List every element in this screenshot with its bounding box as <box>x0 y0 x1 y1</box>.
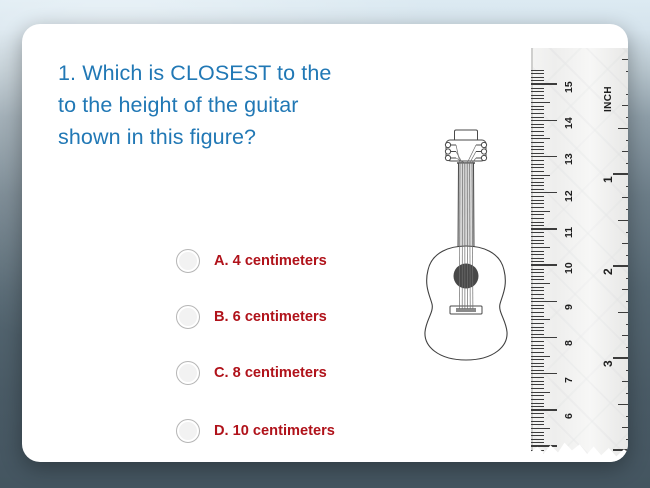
ruler-inch-minor-tick <box>626 347 628 348</box>
ruler-cm-minor-tick <box>531 247 550 248</box>
question-card: 1. Which is CLOSEST to the to the height… <box>22 24 628 462</box>
option-c-label: C. 8 centimeters <box>214 365 327 381</box>
ruler-cm-minor-tick <box>531 384 544 385</box>
ruler-cm-major-tick <box>531 301 557 303</box>
option-a-label: A. 4 centimeters <box>214 253 327 269</box>
ruler-cm-minor-tick <box>531 200 544 201</box>
ruler-cm-minor-tick <box>531 135 544 136</box>
ruler-illustration: 15141312111098765 1234 INCH <box>531 48 628 462</box>
ruler-cm-minor-tick <box>531 403 544 404</box>
ruler-inch-minor-tick <box>622 151 628 152</box>
option-d[interactable]: D. 10 centimeters <box>176 408 476 454</box>
ruler-cm-minor-tick <box>531 417 544 418</box>
ruler-cm-minor-tick <box>531 305 544 306</box>
ruler-cm-number: 14 <box>563 118 575 130</box>
ruler-cm-minor-tick <box>531 189 544 190</box>
ruler-cm-number: 10 <box>563 262 575 274</box>
ruler-cm-minor-tick <box>531 185 544 186</box>
ruler-inch-major-tick <box>613 265 628 267</box>
ruler-inch-minor-tick <box>626 301 628 302</box>
ruler-cm-minor-tick <box>531 308 544 309</box>
ruler-cm-minor-tick <box>531 370 544 371</box>
ruler-cm-minor-tick <box>531 182 544 183</box>
ruler-cm-minor-tick <box>531 160 544 161</box>
ruler-inch-minor-tick <box>626 416 628 417</box>
ruler-cm-minor-tick <box>531 312 544 313</box>
ruler-cm-minor-tick <box>531 142 544 143</box>
ruler-inch-minor-tick <box>622 243 628 244</box>
ruler-inch-number: 1 <box>601 176 615 183</box>
ruler-cm-minor-tick <box>531 316 544 317</box>
ruler-cm-minor-tick <box>531 88 544 89</box>
ruler-cm-number: 6 <box>563 413 575 419</box>
ruler-cm-major-tick <box>531 83 557 85</box>
ruler-inch-minor-tick <box>622 105 628 106</box>
option-b-label: B. 6 centimeters <box>214 309 327 325</box>
ruler-cm-minor-tick <box>531 279 544 280</box>
ruler-cm-minor-tick <box>531 352 544 353</box>
ruler-cm-minor-tick <box>531 413 544 414</box>
acoustic-guitar-illustration <box>420 128 512 364</box>
ruler-cm-minor-tick <box>531 77 544 78</box>
ruler-inch-minor-tick <box>626 140 628 141</box>
ruler-inch-minor-tick <box>626 439 628 440</box>
ruler-cm-major-tick <box>531 373 557 375</box>
ruler-cm-number: 12 <box>563 190 575 202</box>
ruler-cm-minor-tick <box>531 327 544 328</box>
radio-button-c[interactable] <box>176 361 200 385</box>
ruler-cm-minor-tick <box>531 113 544 114</box>
ruler-cm-minor-tick <box>531 240 544 241</box>
question-line-2: to the height of the guitar <box>58 89 378 121</box>
ruler-inch-minor-tick <box>626 163 628 164</box>
ruler-cm-minor-tick <box>531 178 544 179</box>
ruler-cm-minor-tick <box>531 388 544 389</box>
ruler-inch-minor-tick <box>626 117 628 118</box>
ruler-cm-minor-tick <box>531 95 544 96</box>
ruler-cm-minor-tick <box>531 276 544 277</box>
ruler-cm-number: 11 <box>563 227 575 238</box>
question-line-1: 1. Which is CLOSEST to the <box>58 57 378 89</box>
ruler-cm-major-tick <box>531 264 557 266</box>
ruler-cm-major-tick <box>531 228 557 230</box>
ruler-cm-minor-tick <box>531 73 544 74</box>
ruler-cm-number: 7 <box>563 377 575 383</box>
ruler-inch-minor-tick <box>618 404 628 405</box>
ruler-cm-minor-tick <box>531 356 550 357</box>
ruler-cm-number: 13 <box>563 154 575 166</box>
ruler-cm-minor-tick <box>531 290 544 291</box>
ruler-cm-minor-tick <box>531 243 544 244</box>
ruler-cm-major-tick <box>531 409 557 411</box>
ruler-cm-minor-tick <box>531 80 544 81</box>
ruler-cm-minor-tick <box>531 421 544 422</box>
ruler-cm-minor-tick <box>531 225 544 226</box>
ruler-cm-minor-tick <box>531 251 544 252</box>
ruler-cm-minor-tick <box>531 345 544 346</box>
ruler-cm-minor-tick <box>531 272 544 273</box>
ruler-inch-minor-tick <box>622 289 628 290</box>
ruler-cm-minor-tick <box>531 138 550 139</box>
ruler-cm-minor-tick <box>531 124 544 125</box>
ruler-cm-minor-tick <box>531 395 544 396</box>
ruler-cm-minor-tick <box>531 269 544 270</box>
ruler-cm-minor-tick <box>531 424 544 425</box>
ruler-cm-minor-tick <box>531 363 544 364</box>
ruler-inch-minor-tick <box>626 370 628 371</box>
ruler-cm-minor-tick <box>531 171 544 172</box>
ruler-inch-minor-tick <box>622 335 628 336</box>
ruler-cm-minor-tick <box>531 214 544 215</box>
ruler-inch-minor-tick <box>626 209 628 210</box>
ruler-cm-minor-tick <box>531 294 544 295</box>
ruler-inch-number: 3 <box>601 360 615 367</box>
ruler-cm-major-tick <box>531 120 557 122</box>
ruler-cm-minor-tick <box>531 98 544 99</box>
ruler-cm-number: 8 <box>563 341 575 347</box>
ruler-cm-minor-tick <box>531 359 544 360</box>
ruler-cm-minor-tick <box>531 330 544 331</box>
ruler-inch-minor-tick <box>626 94 628 95</box>
ruler-inch-minor-tick <box>626 393 628 394</box>
ruler-cm-minor-tick <box>531 196 544 197</box>
ruler-inch-minor-tick <box>618 128 628 129</box>
ruler-cm-minor-tick <box>531 381 544 382</box>
ruler-inch-minor-tick <box>626 186 628 187</box>
radio-button-b[interactable] <box>176 305 200 329</box>
option-d-label: D. 10 centimeters <box>214 423 335 439</box>
ruler-cm-minor-tick <box>531 432 544 433</box>
ruler-cm-minor-tick <box>531 175 550 176</box>
ruler-cm-minor-tick <box>531 164 544 165</box>
ruler-cm-minor-tick <box>531 287 544 288</box>
ruler-cm-minor-tick <box>531 70 544 71</box>
ruler-cm-number: 9 <box>563 304 575 310</box>
ruler-inch-minor-tick <box>618 220 628 221</box>
ruler-cm-minor-tick <box>531 149 544 150</box>
ruler-inch-minor-tick <box>626 278 628 279</box>
ruler-cm-minor-tick <box>531 127 544 128</box>
ruler-cm-minor-tick <box>531 348 544 349</box>
ruler-cm-minor-tick <box>531 131 544 132</box>
ruler-cm-minor-tick <box>531 203 544 204</box>
ruler-cm-major-tick <box>531 445 557 447</box>
ruler-cm-minor-tick <box>531 91 544 92</box>
ruler-cm-number: 15 <box>563 81 575 93</box>
ruler-cm-minor-tick <box>531 392 550 393</box>
ruler-cm-minor-tick <box>531 341 544 342</box>
ruler-cm-minor-tick <box>531 435 544 436</box>
ruler-inch-minor-tick <box>622 427 628 428</box>
ruler-inch-minor-tick <box>618 312 628 313</box>
ruler-cm-minor-tick <box>531 146 544 147</box>
ruler-cm-major-tick <box>531 337 557 339</box>
ruler-cm-minor-tick <box>531 261 544 262</box>
ruler-cm-minor-tick <box>531 222 544 223</box>
ruler-cm-minor-tick <box>531 366 544 367</box>
ruler-inch-minor-tick <box>622 59 628 60</box>
page-title: 1. Which is CLOSEST to the to the height… <box>58 57 378 153</box>
ruler-cm-minor-tick <box>531 406 544 407</box>
ruler-cm-minor-tick <box>531 109 544 110</box>
ruler-cm-minor-tick <box>531 236 544 237</box>
ruler-cm-minor-tick <box>531 442 544 443</box>
ruler-cm-minor-tick <box>531 399 544 400</box>
ruler-cm-minor-tick <box>531 207 544 208</box>
inch-label: INCH <box>603 86 614 112</box>
ruler-inch-minor-tick <box>626 255 628 256</box>
ruler-cm-minor-tick <box>531 258 544 259</box>
ruler-inch-number: 2 <box>601 268 615 275</box>
ruler-inch-minor-tick <box>622 197 628 198</box>
ruler-cm-major-tick <box>531 156 557 158</box>
radio-button-a[interactable] <box>176 249 200 273</box>
ruler-cm-minor-tick <box>531 319 550 320</box>
ruler-centimeter-scale: 15141312111098765 <box>531 48 583 460</box>
ruler-cm-minor-tick <box>531 439 544 440</box>
ruler-cm-minor-tick <box>531 153 544 154</box>
ruler-inch-minor-tick <box>626 232 628 233</box>
ruler-cm-minor-tick <box>531 117 544 118</box>
ruler-inch-minor-tick <box>622 381 628 382</box>
ruler-cm-minor-tick <box>531 428 550 429</box>
ruler-cm-major-tick <box>531 192 557 194</box>
ruler-inch-minor-tick <box>626 71 628 72</box>
ruler-cm-minor-tick <box>531 283 550 284</box>
ruler-cm-minor-tick <box>531 377 544 378</box>
ruler-cm-minor-tick <box>531 106 544 107</box>
radio-button-d[interactable] <box>176 419 200 443</box>
ruler-cm-minor-tick <box>531 323 544 324</box>
ruler-inch-minor-tick <box>626 324 628 325</box>
ruler-cm-minor-tick <box>531 334 544 335</box>
ruler-cm-minor-tick <box>531 298 544 299</box>
ruler-cm-minor-tick <box>531 167 544 168</box>
ruler-inch-major-tick <box>613 357 628 359</box>
ruler-cm-minor-tick <box>531 254 544 255</box>
ruler-cm-minor-tick <box>531 102 550 103</box>
ruler-cm-minor-tick <box>531 218 544 219</box>
ruler-cm-minor-tick <box>531 211 550 212</box>
ruler-inch-major-tick <box>613 173 628 175</box>
ruler-cm-minor-tick <box>531 232 544 233</box>
question-line-3: shown in this figure? <box>58 121 378 153</box>
